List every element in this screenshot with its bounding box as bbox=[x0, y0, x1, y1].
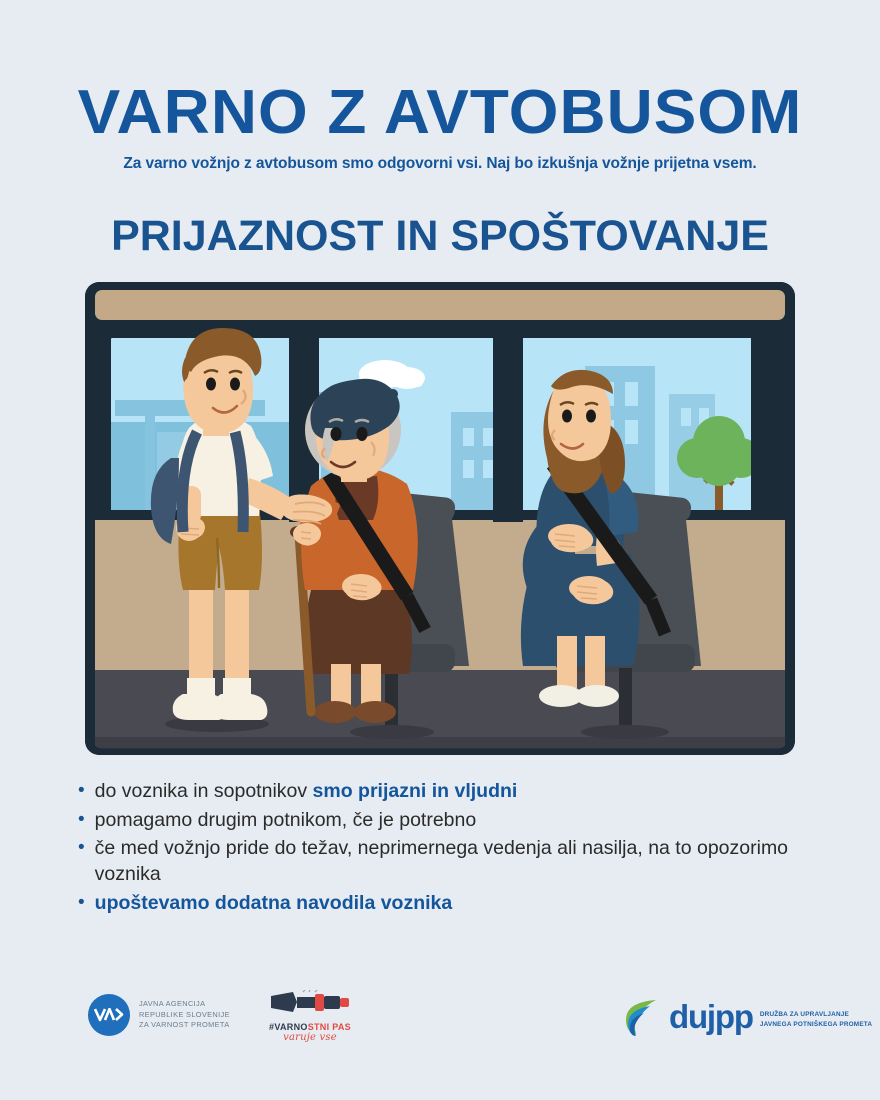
page-title: VARNO Z AVTOBUSOM bbox=[0, 0, 880, 144]
rules-list: • do voznika in sopotnikov smo prijazni … bbox=[78, 779, 818, 917]
dujpp-line-1: DRUŽBA ZA UPRAVLJANJE bbox=[760, 1010, 872, 1020]
bus-interior-illustration bbox=[85, 282, 795, 755]
bullet-dot-icon: • bbox=[78, 779, 85, 804]
list-item-text: upoštevamo dodatna navodila voznika bbox=[95, 891, 818, 917]
logo-seatbelt-campaign: #VARNOSTNI PAS varuje vse bbox=[258, 990, 362, 1043]
bus-scene-svg bbox=[85, 282, 795, 755]
avp-agency-name: JAVNA AGENCIJA REPUBLIKE SLOVENIJE ZA VA… bbox=[139, 999, 230, 1031]
bullet-dot-icon: • bbox=[78, 808, 85, 833]
dujpp-tagline: DRUŽBA ZA UPRAVLJANJE JAVNEGA POTNIŠKEGA… bbox=[760, 1002, 872, 1029]
dujpp-wordmark: dujpp bbox=[669, 1000, 753, 1033]
bullet-dot-icon: • bbox=[78, 836, 85, 861]
logo-avp: JAVNA AGENCIJA REPUBLIKE SLOVENIJE ZA VA… bbox=[88, 994, 230, 1036]
page-subtitle: Za varno vožnjo z avtobusom smo odgovorn… bbox=[0, 155, 880, 173]
avp-line-3: ZA VARNOST PROMETA bbox=[139, 1020, 230, 1031]
list-item-text: do voznika in sopotnikov smo prijazni in… bbox=[95, 779, 818, 805]
logo-dujpp: dujpp DRUŽBA ZA UPRAVLJANJE JAVNEGA POTN… bbox=[622, 996, 872, 1036]
avp-line-1: JAVNA AGENCIJA bbox=[139, 999, 230, 1010]
list-item: • pomagamo drugim potnikom, če je potreb… bbox=[78, 808, 818, 834]
list-item-text: če med vožnjo pride do težav, neprimerne… bbox=[95, 836, 818, 887]
poster-root: VARNO Z AVTOBUSOM Za varno vožnjo z avto… bbox=[0, 0, 880, 1100]
list-item: • do voznika in sopotnikov smo prijazni … bbox=[78, 779, 818, 805]
bullet-dot-icon: • bbox=[78, 891, 85, 916]
seatbelt-hashtag: #VARNOSTNI PAS bbox=[258, 1022, 362, 1032]
dujpp-line-2: JAVNEGA POTNIŠKEGA PROMETA bbox=[760, 1020, 872, 1030]
dujpp-swoosh-icon bbox=[622, 996, 662, 1036]
list-item-text: pomagamo drugim potnikom, če je potrebno bbox=[95, 808, 818, 834]
seatbelt-script-text: varuje vse bbox=[258, 1032, 362, 1043]
avp-glyph-icon bbox=[94, 1008, 124, 1022]
list-item: • če med vožnjo pride do težav, neprimer… bbox=[78, 836, 818, 887]
seatbelt-buckle-icon bbox=[267, 990, 353, 1016]
avp-line-2: REPUBLIKE SLOVENIJE bbox=[139, 1010, 230, 1021]
footer-logos: JAVNA AGENCIJA REPUBLIKE SLOVENIJE ZA VA… bbox=[0, 992, 880, 1056]
avp-mark-icon bbox=[88, 994, 130, 1036]
list-item: • upoštevamo dodatna navodila voznika bbox=[78, 891, 818, 917]
section-heading: PRIJAZNOST IN SPOŠTOVANJE bbox=[0, 212, 880, 261]
